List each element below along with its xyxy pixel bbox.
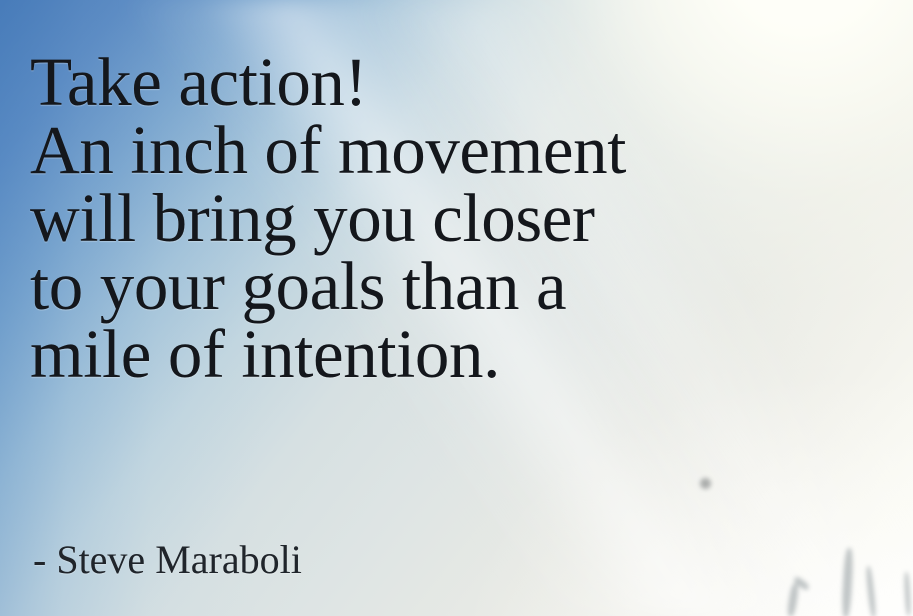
quote-line-2: An inch of movement bbox=[30, 116, 910, 184]
twig-branch-tall bbox=[841, 548, 854, 616]
twig-branch-short bbox=[786, 583, 799, 616]
quote-text-block: Take action! An inch of movement will br… bbox=[30, 48, 910, 388]
bokeh-dot bbox=[700, 478, 711, 489]
quote-line-4: to your goals than a bbox=[30, 252, 910, 320]
quote-poster: Take action! An inch of movement will br… bbox=[0, 0, 913, 616]
quote-line-3: will bring you closer bbox=[30, 184, 910, 252]
twig-branch-hook bbox=[793, 576, 811, 592]
quote-line-5: mile of intention. bbox=[30, 320, 910, 388]
twig-branch-mid bbox=[865, 566, 876, 616]
twig-branch-faint bbox=[904, 572, 911, 616]
quote-attribution: - Steve Maraboli bbox=[33, 538, 302, 582]
quote-line-1: Take action! bbox=[30, 48, 910, 116]
